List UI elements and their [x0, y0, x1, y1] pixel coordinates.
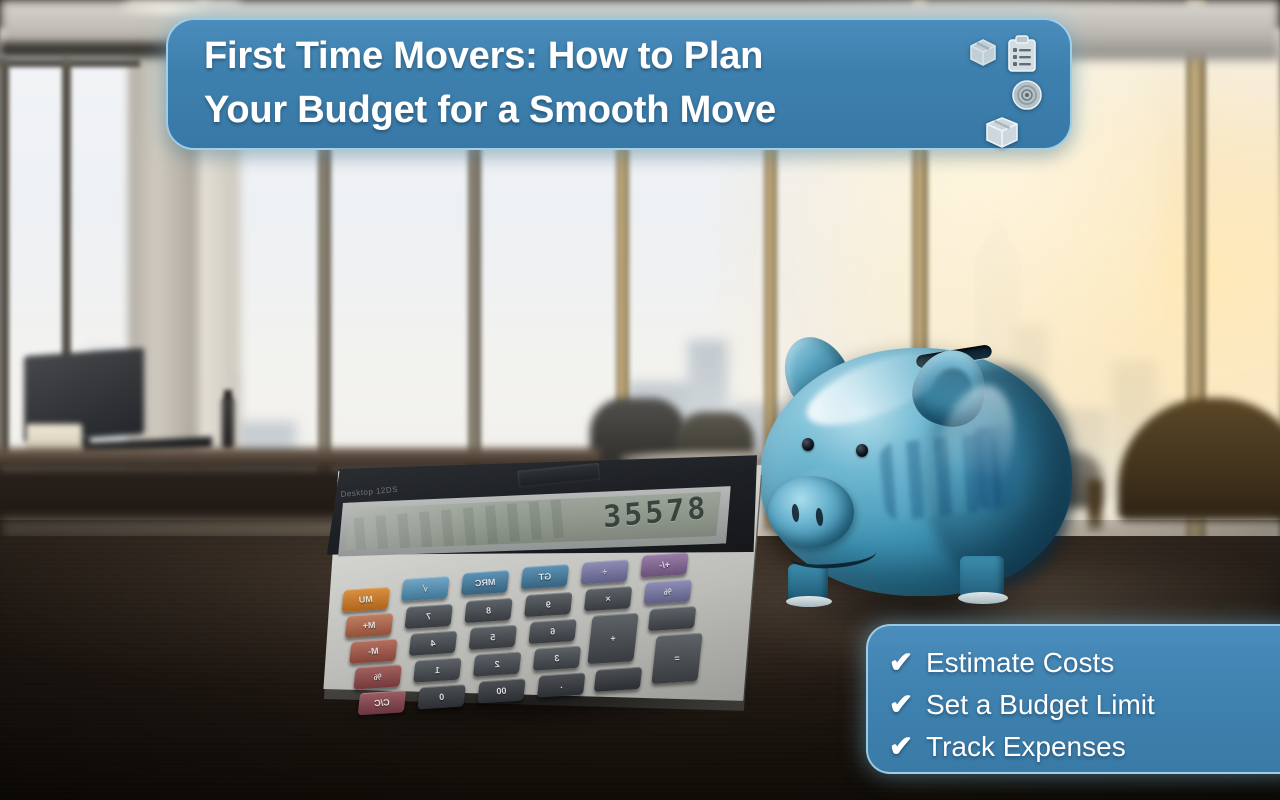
calculator-key[interactable]: 5: [469, 625, 517, 650]
piggy-snout: [768, 476, 854, 548]
check-icon: ✔: [886, 649, 916, 678]
checklist-item: ✔ Track Expenses: [886, 726, 1280, 768]
calculator-key[interactable]: 4: [409, 631, 457, 656]
calculator-key-label: =: [652, 633, 701, 684]
calculator-key-label: C/C: [358, 690, 406, 715]
calculator-key-label: 7: [405, 604, 453, 629]
calculator-key-label: 5: [469, 625, 517, 650]
calculator-key[interactable]: 2: [473, 652, 521, 677]
calculator-key-label: +: [588, 613, 637, 664]
calculator-key[interactable]: 1: [413, 657, 461, 682]
calculator-key[interactable]: [594, 667, 642, 692]
checklist-panel: ✔ Estimate Costs ✔ Set a Budget Limit ✔ …: [866, 624, 1280, 774]
calculator-key[interactable]: MU: [342, 587, 390, 612]
checklist-item-label: Estimate Costs: [926, 647, 1114, 679]
check-icon: ✔: [886, 733, 916, 762]
calculator-key-label: GT: [521, 564, 569, 589]
piggy-eye-left: [802, 438, 814, 451]
bottle-cap: [224, 390, 232, 402]
checklist-item-label: Set a Budget Limit: [926, 689, 1155, 721]
box-icon: [966, 36, 1000, 70]
calculator-key-label: [594, 667, 642, 692]
calculator-key-label: 00: [478, 678, 526, 703]
calculator-key-label: 8: [465, 598, 513, 623]
calculator-key-label: +/-: [641, 552, 689, 577]
calculator-key[interactable]: 7: [404, 604, 452, 629]
checklist-item-label: Track Expenses: [926, 731, 1126, 763]
piggy-foot: [958, 592, 1008, 604]
calculator-key-label: 6: [529, 619, 577, 644]
calculator-key-label: 9: [525, 592, 573, 617]
bottle: [222, 398, 234, 450]
calculator-key-label: √: [402, 576, 450, 601]
title-line-1: First Time Movers: How to Plan: [204, 30, 998, 84]
checklist-item: ✔ Estimate Costs: [886, 642, 1280, 684]
calculator-key-label: MRC: [461, 570, 509, 595]
calculator-keypad: MU M+ M- % C/C √ 7 4 1 0 MRC 8 5 2 00 GT…: [340, 554, 759, 722]
calculator-key[interactable]: MRC: [461, 570, 509, 595]
calculator-key[interactable]: GT: [521, 564, 569, 589]
calculator-key[interactable]: 6: [528, 619, 576, 644]
calculator-key-label: %: [644, 579, 692, 604]
calculator-key-label: 0: [418, 684, 466, 709]
ceiling-light: [120, 4, 210, 14]
page-title: First Time Movers: How to Plan Your Budg…: [168, 30, 998, 138]
calculator-key-label: 3: [533, 646, 581, 671]
calculator-key[interactable]: =: [651, 633, 702, 684]
calculator-key-label: ×: [584, 586, 632, 611]
piggy-bank: [744, 326, 1094, 636]
desktop-calculator: Desktop 12DS 35578 MU M+ M- % C/C √ 7 4 …: [292, 423, 788, 749]
calculator-key[interactable]: +: [587, 613, 638, 664]
calculator-key-label: %: [354, 665, 402, 690]
calculator-key-label: M+: [345, 613, 393, 638]
piggy-foot: [786, 596, 832, 607]
calculator-key[interactable]: 8: [464, 598, 512, 623]
calculator-key[interactable]: 3: [533, 646, 581, 671]
window-frame: [0, 58, 9, 458]
calculator-key-label: M-: [350, 639, 398, 664]
calculator-key-label: ÷: [581, 559, 629, 584]
calculator-key[interactable]: 00: [477, 678, 525, 703]
calculator-key[interactable]: [648, 606, 696, 631]
calculator-key[interactable]: 0: [417, 684, 465, 709]
calculator-key[interactable]: M-: [349, 639, 397, 664]
title-banner: First Time Movers: How to Plan Your Budg…: [166, 18, 1072, 150]
calculator-key-label: MU: [342, 587, 390, 612]
calculator-key[interactable]: .: [537, 672, 585, 697]
check-icon: ✔: [886, 691, 916, 720]
calculator-key[interactable]: M+: [345, 613, 393, 638]
banner-icon-group: [964, 34, 1060, 144]
calculator-key[interactable]: 9: [524, 592, 572, 617]
calculator-key[interactable]: +/-: [640, 552, 688, 577]
calculator-key-label: 2: [473, 652, 521, 677]
promotional-graphic: Desktop 12DS 35578 MU M+ M- % C/C √ 7 4 …: [0, 0, 1280, 800]
calculator-key[interactable]: √: [401, 576, 449, 601]
checklist-item: ✔ Set a Budget Limit: [886, 684, 1280, 726]
package-box-icon: [982, 114, 1022, 152]
piggy-eye-right: [856, 444, 868, 457]
calculator-key-label: 1: [414, 658, 462, 683]
calculator-key-label: .: [537, 673, 585, 698]
calculator-key[interactable]: ×: [584, 586, 632, 611]
coin-target-icon: [1010, 78, 1044, 112]
calculator-key[interactable]: C/C: [358, 690, 406, 715]
calculator-key[interactable]: %: [353, 664, 401, 689]
title-line-2: Your Budget for a Smooth Move: [204, 84, 998, 138]
clipboard-checklist-icon: [1006, 34, 1038, 74]
calculator-key[interactable]: ÷: [581, 559, 629, 584]
calculator-key-label: 4: [409, 631, 457, 656]
calculator-key[interactable]: %: [644, 579, 692, 604]
